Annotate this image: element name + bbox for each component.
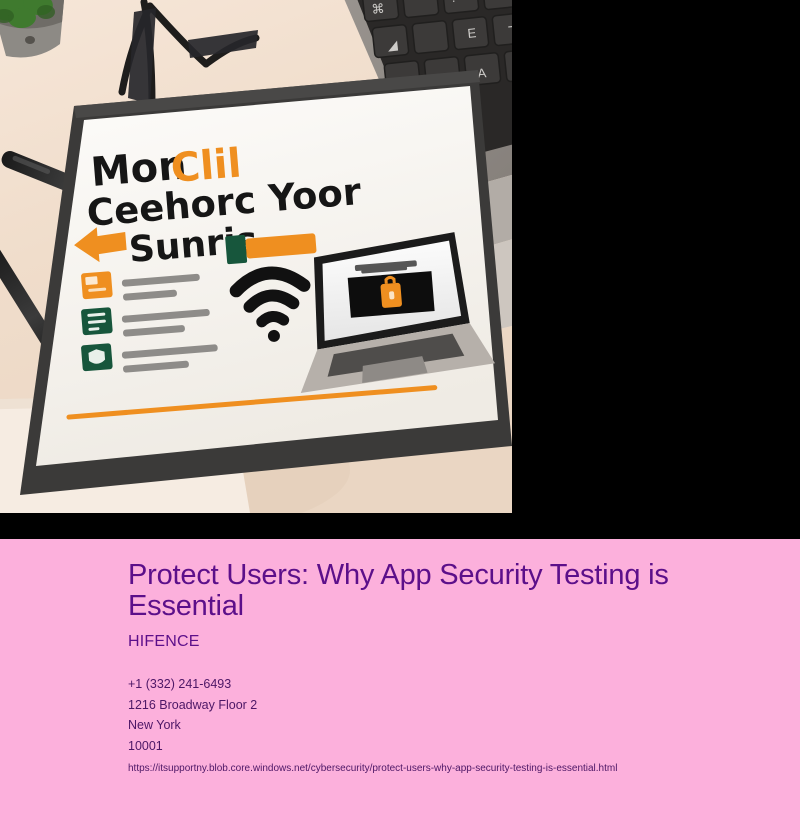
contact-phone: +1 (332) 241-6493 bbox=[128, 674, 748, 695]
letterbox-gap bbox=[0, 513, 800, 539]
document-icon bbox=[81, 307, 113, 335]
contact-block: +1 (332) 241-6493 1216 Broadway Floor 2 … bbox=[128, 674, 748, 756]
svg-text:!: ! bbox=[451, 0, 456, 5]
shield-icon bbox=[81, 343, 113, 371]
hero-photo-illustration: ⌘ ! W ◢ E ⌥ ▲ A ⇧ bbox=[0, 0, 512, 513]
contact-zip: 10001 bbox=[128, 736, 748, 757]
svg-text:◢: ◢ bbox=[387, 37, 399, 53]
svg-text:⌘: ⌘ bbox=[371, 1, 385, 17]
tablet-with-infographic: Mon Clil Ceehorc Yoor Sunris bbox=[20, 70, 512, 495]
info-content: Protect Users: Why App Security Testing … bbox=[128, 560, 748, 775]
black-right-panel bbox=[512, 0, 800, 513]
page-title: Protect Users: Why App Security Testing … bbox=[128, 560, 728, 622]
source-url-link[interactable]: https://itsupportny.blob.core.windows.ne… bbox=[128, 762, 748, 775]
info-panel: Protect Users: Why App Security Testing … bbox=[0, 539, 800, 840]
hero-photo: ⌘ ! W ◢ E ⌥ ▲ A ⇧ bbox=[0, 0, 512, 513]
folder-icon bbox=[81, 271, 113, 299]
svg-text:⌥: ⌥ bbox=[507, 20, 512, 36]
contact-street: 1216 Broadway Floor 2 bbox=[128, 695, 748, 716]
brand-name: HIFENCE bbox=[128, 632, 748, 652]
contact-city: New York bbox=[128, 715, 748, 736]
